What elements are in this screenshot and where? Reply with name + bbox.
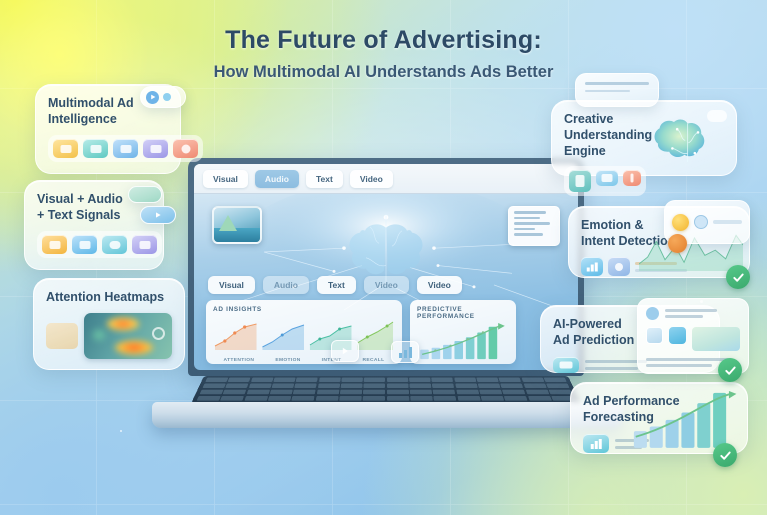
tab-text[interactable]: Text [306,170,343,188]
page-title: The Future of Advertising: [0,26,767,55]
cloud-icon[interactable] [102,235,127,254]
neural-network-visual: Visual Audio Text Video Video AD INSIGHT… [194,194,578,370]
inline-chip-text[interactable]: Text [317,276,356,294]
line [585,90,630,93]
lightning-icon[interactable] [53,139,78,158]
smiley-face-icon [672,214,689,231]
preview-body [646,327,740,351]
bar-chart-icon[interactable] [391,341,419,363]
inline-chip-video-2[interactable]: Video [417,276,462,294]
audio-icon[interactable] [132,235,157,254]
video-icon[interactable] [72,235,97,254]
media-icon[interactable] [83,139,108,158]
tab-video[interactable]: Video [350,170,393,188]
line [713,220,742,224]
metric-label-emotion: EMOTION [275,358,300,363]
placeholder-lines [665,309,740,318]
thumbnail-image [692,327,740,351]
icon-chip-row [564,166,646,196]
layout-icon[interactable] [553,357,579,373]
check-icon [724,364,737,377]
panel-ad-insights: AD INSIGHTS [206,300,402,364]
status-badge-check [718,358,742,382]
inline-chip-audio[interactable]: Audio [263,276,309,294]
tab-audio[interactable]: Audio [255,170,299,188]
page-subtitle: How Multimodal AI Understands Ads Better [0,63,767,82]
check-icon [732,271,745,284]
insights-axis-labels: ATTENTION EMOTION INTENT RECALL [213,358,395,363]
icon-chip-row [37,231,162,258]
badge-dot [163,93,171,101]
metric-label-recall: RECALL [362,358,384,363]
spark-icon[interactable] [143,139,168,158]
status-badge-check [713,443,737,467]
forecast-bar-chart [632,390,742,448]
avatar [646,307,659,320]
card-creative-understanding-engine[interactable]: Creative Understanding Engine [551,100,737,176]
document-icon[interactable] [569,170,591,192]
line [585,82,649,85]
tab-visual[interactable]: Visual [203,170,248,188]
inline-chip-video[interactable]: Video [364,276,409,294]
panel-heading: AD INSIGHTS [213,306,395,313]
refresh-icon [694,215,708,229]
key-row [202,384,569,389]
page-title-block: The Future of Advertising: How Multimoda… [0,26,767,82]
person-icon[interactable] [608,257,630,276]
cloud-icon [707,110,727,122]
alert-icon[interactable] [623,170,641,186]
image-icon[interactable] [113,139,138,158]
neutral-face-icon [668,234,687,253]
play-icon[interactable] [331,340,359,362]
image-thumbnail [212,206,262,244]
document-preview-card [508,206,560,246]
bar-chart-icon[interactable] [583,434,609,453]
laptop-mockup: Visual Audio Text Video [152,158,622,428]
check-icon [719,449,732,462]
metric-label-attention: ATTENTION [224,358,255,363]
laptop-base [152,402,622,428]
key-row [200,390,573,395]
tab-list: Visual Audio Text Video [203,170,393,188]
popover-play-badge [140,86,186,108]
attention-heatmap-image [84,313,172,359]
sparkle-dot [120,430,122,432]
laptop-lid: Visual Audio Text Video [188,158,584,376]
record-icon[interactable] [173,139,198,158]
panel-predictive-performance: PREDICTIVE PERFORMANCE [410,300,516,364]
card-title: Attention Heatmaps [46,289,172,305]
inline-chip-visual[interactable]: Visual [208,276,255,294]
card-title: AI-Powered Ad Prediction [553,316,649,348]
play-icon [146,91,159,104]
wifi-icon [669,327,686,344]
predictive-bar-chart [417,323,509,366]
thumbnail-placeholder [46,323,78,349]
lightning-icon[interactable] [42,235,67,254]
play-icon [154,211,162,219]
inline-tab-chips: Visual Audio Text Video Video [208,276,462,294]
key-row [197,396,576,401]
popover-video-chip [140,206,176,224]
laptop-screen: Visual Audio Text Video [194,164,578,370]
window-icon [646,327,663,344]
infographic-canvas: The Future of Advertising: How Multimoda… [0,0,767,515]
focus-ring-icon [152,327,165,340]
display-icon[interactable] [596,170,618,186]
popover-signal-chip [128,186,162,203]
bar-chart-icon[interactable] [581,257,603,276]
insights-sparklines [213,316,395,355]
preview-header [646,307,740,320]
status-badge-check [726,265,750,289]
card-attention-heatmaps[interactable]: Attention Heatmaps [33,278,185,370]
heatmap-row [46,313,172,359]
panel-heading: PREDICTIVE PERFORMANCE [417,306,509,320]
icon-chip-row [48,135,203,162]
key-row [205,378,567,383]
laptop-keyboard [191,376,580,403]
